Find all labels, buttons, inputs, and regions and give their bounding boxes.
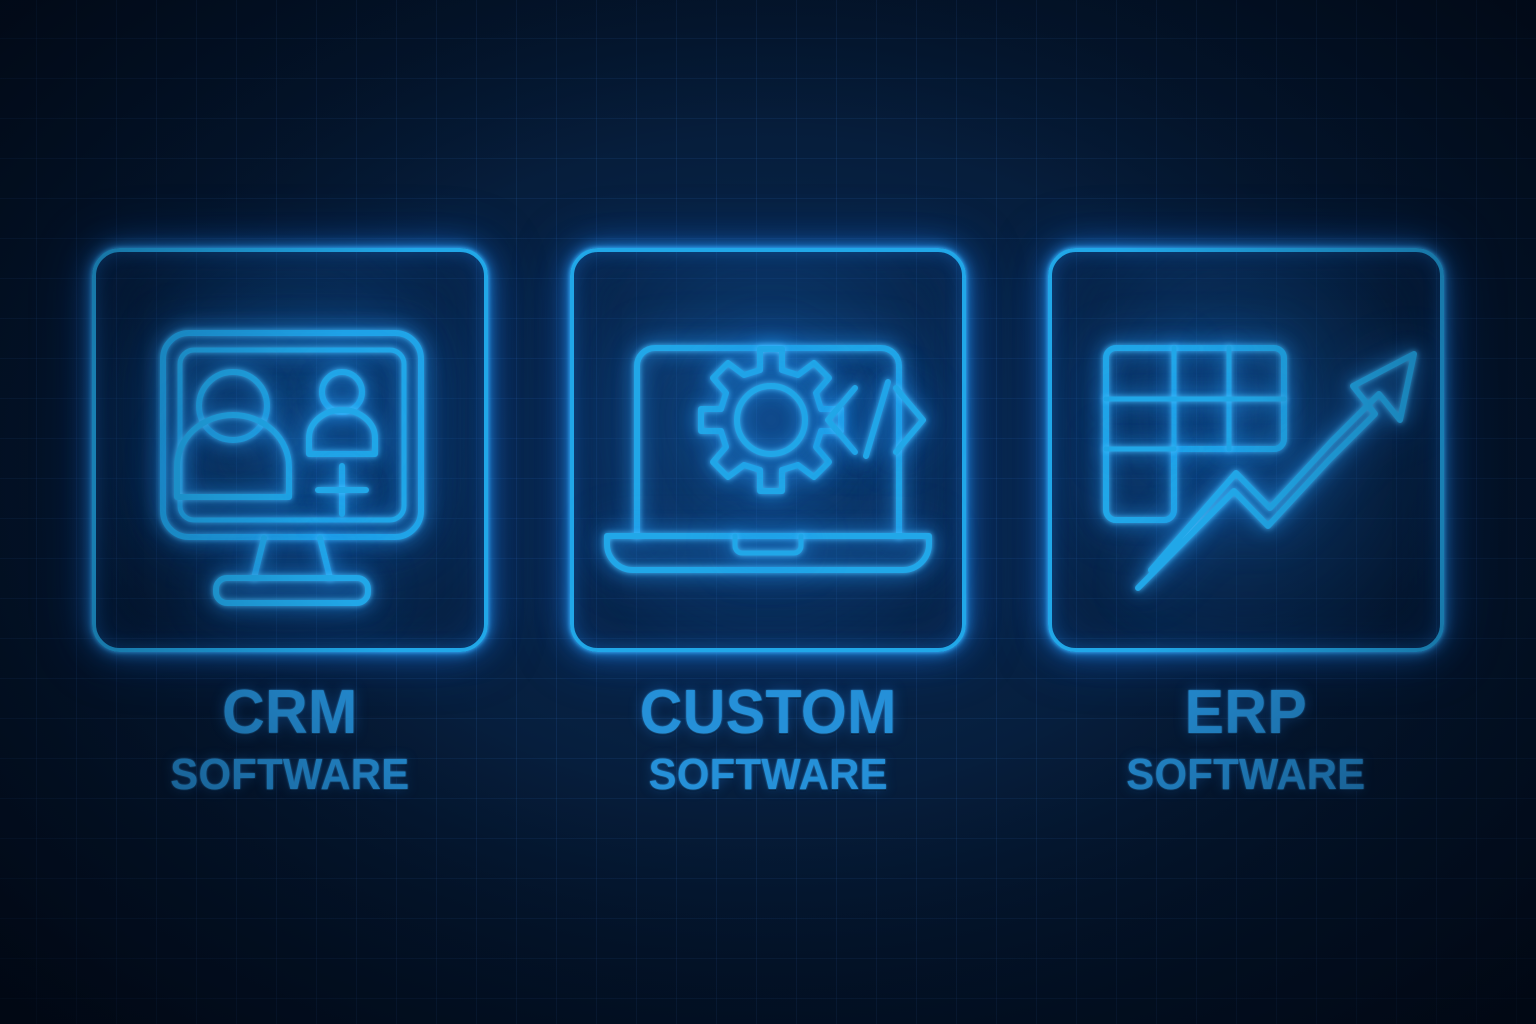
- card-title-crm: CRM: [170, 682, 409, 744]
- icon-panel-erp[interactable]: [1048, 248, 1444, 652]
- caption-erp: ERP SOFTWARE: [1120, 682, 1372, 797]
- user-avatar-large-body: [177, 415, 289, 497]
- card-custom[interactable]: CUSTOM SOFTWARE: [570, 248, 966, 797]
- monitor-stand: [254, 538, 330, 578]
- monitor-outer-bezel: [163, 333, 421, 537]
- user-avatar-small-head: [322, 372, 362, 412]
- caption-custom: CUSTOM SOFTWARE: [633, 682, 904, 797]
- grid-growth-arrow-icon: [1048, 248, 1444, 652]
- card-title-erp: ERP: [1126, 682, 1365, 744]
- user-avatar-small-body: [309, 410, 375, 454]
- card-title-custom: CUSTOM: [639, 682, 896, 744]
- gear-hub: [737, 386, 805, 454]
- card-subtitle-custom: SOFTWARE: [639, 753, 896, 797]
- desktop-monitor-users-add-icon: [92, 248, 488, 652]
- card-crm[interactable]: CRM SOFTWARE: [92, 248, 488, 797]
- card-erp[interactable]: ERP SOFTWARE: [1048, 248, 1444, 797]
- monitor-base: [216, 578, 368, 603]
- growth-arrow: [1138, 354, 1414, 588]
- card-subtitle-erp: SOFTWARE: [1126, 753, 1365, 797]
- code-slash: [866, 382, 888, 456]
- user-avatar-large-head: [199, 372, 267, 440]
- laptop-gear-code-icon: [570, 248, 966, 652]
- icon-panel-crm[interactable]: [92, 248, 488, 652]
- icon-panel-custom[interactable]: [570, 248, 966, 652]
- poster-canvas: CRM SOFTWARE: [0, 0, 1536, 1024]
- card-subtitle-crm: SOFTWARE: [170, 753, 409, 797]
- laptop-screen: [637, 348, 899, 536]
- gear-outline: [701, 349, 841, 491]
- caption-crm: CRM SOFTWARE: [164, 682, 416, 797]
- card-row: CRM SOFTWARE: [0, 0, 1536, 1024]
